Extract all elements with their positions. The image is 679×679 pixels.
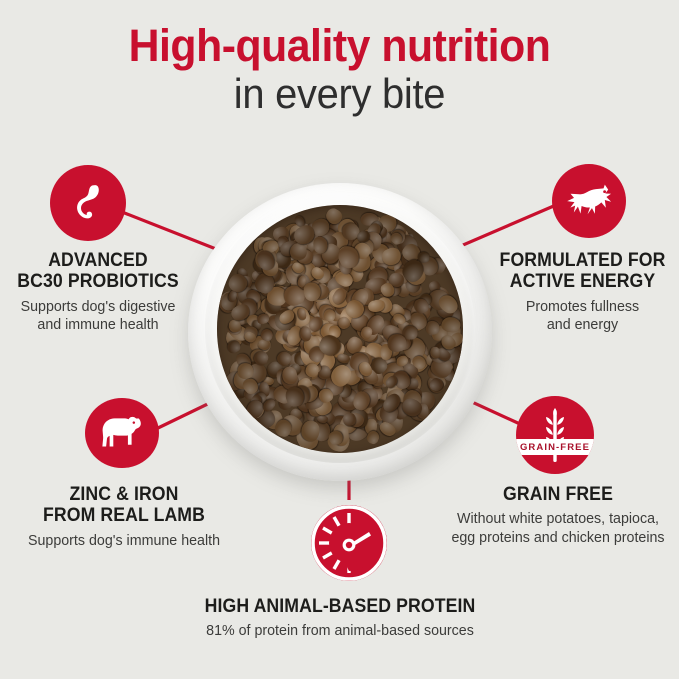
callout-active-energy-subtitle: Promotes fullness and energy — [491, 298, 674, 335]
callout-zinc-iron: ZINC & IRON FROM REAL LAMB Supports dog'… — [8, 484, 240, 550]
callout-grain-free: GRAIN FREE Without white potatoes, tapio… — [437, 484, 679, 547]
kibble-piece — [366, 430, 382, 446]
callout-probiotics-title: ADVANCED BC30 PROBIOTICS — [7, 250, 189, 293]
headline-line-1: High-quality nutrition — [17, 22, 662, 69]
callout-active-energy: FORMULATED FOR ACTIVE ENERGY Promotes fu… — [486, 250, 679, 334]
gauge-meter-icon — [311, 505, 387, 581]
wheat-grain-free-badge-icon: GRAIN-FREE — [516, 396, 594, 474]
callout-animal-protein: HIGH ANIMAL-BASED PROTEIN 81% of protein… — [130, 596, 550, 641]
stomach-icon-glyph — [65, 180, 111, 226]
callout-zinc-iron-subtitle: Supports dog's immune health — [14, 532, 234, 550]
callout-probiotics-subtitle: Supports dog's digestive and immune heal… — [5, 298, 191, 335]
page-title: High-quality nutrition in every bite — [0, 22, 679, 116]
lamb-icon — [85, 398, 159, 468]
stomach-icon — [50, 165, 126, 241]
callout-grain-free-title: GRAIN FREE — [445, 484, 670, 505]
callout-active-energy-title: FORMULATED FOR ACTIVE ENERGY — [493, 250, 672, 293]
wheat-stalk-icon — [516, 396, 594, 474]
running-dog-icon-glyph — [564, 179, 614, 223]
headline-line-2: in every bite — [17, 72, 662, 116]
nutrition-infographic: High-quality nutrition in every bite — [0, 0, 679, 679]
callout-animal-protein-subtitle: 81% of protein from animal-based sources — [141, 622, 540, 640]
lamb-icon-glyph — [96, 411, 148, 455]
grain-free-band: GRAIN-FREE — [516, 439, 594, 455]
gauge-meter-icon-glyph — [311, 505, 387, 581]
callout-zinc-iron-title: ZINC & IRON FROM REAL LAMB — [16, 484, 232, 527]
callout-probiotics: ADVANCED BC30 PROBIOTICS Supports dog's … — [0, 250, 196, 334]
callout-animal-protein-title: HIGH ANIMAL-BASED PROTEIN — [145, 596, 536, 617]
grain-free-band-label: GRAIN-FREE — [520, 442, 590, 453]
dog-food-bowl — [188, 183, 492, 481]
running-dog-icon — [552, 164, 626, 238]
callout-grain-free-subtitle: Without white potatoes, tapioca, egg pro… — [443, 510, 673, 547]
kibble-bed — [217, 205, 463, 452]
